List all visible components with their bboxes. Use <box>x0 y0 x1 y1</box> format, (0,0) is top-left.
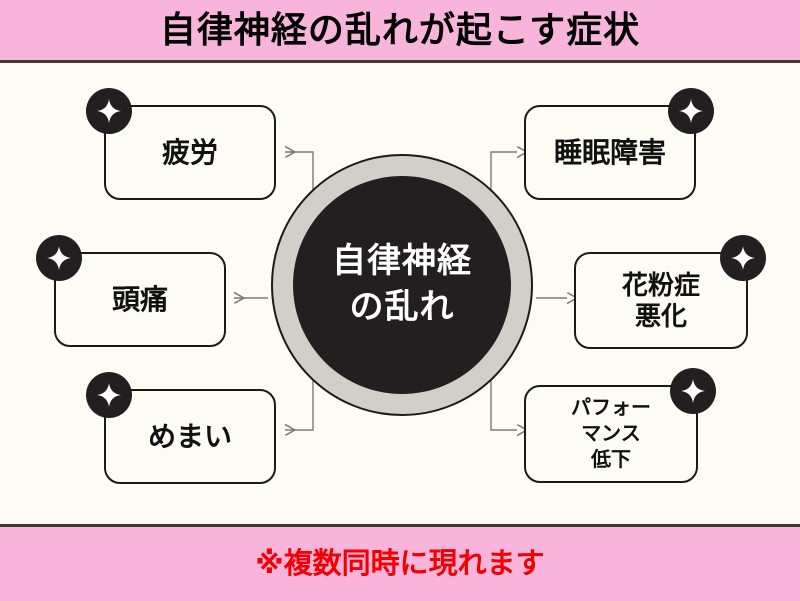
sparkle-icon <box>86 88 132 134</box>
sparkle-icon <box>36 235 82 281</box>
footer-banner: ※複数同時に現れます <box>0 527 800 601</box>
symptom-label: 睡眠障害 <box>554 136 666 169</box>
header-banner: 自律神経の乱れが起こす症状 <box>0 0 800 60</box>
symptom-node-pollen[interactable]: 花粉症 悪化 <box>574 252 748 349</box>
symptom-node-headache[interactable]: 頭痛 <box>54 252 226 347</box>
symptom-label-line-2: マンス <box>581 421 641 447</box>
footer-note: ※複数同時に現れます <box>255 550 544 579</box>
symptom-label: 頭痛 <box>112 283 168 316</box>
symptom-label: 疲労 <box>162 136 218 169</box>
symptom-label-line-1: 花粉症 <box>622 270 700 301</box>
symptom-node-fatigue[interactable]: 疲労 <box>104 105 276 200</box>
connector-hub-to-fatigue <box>285 152 313 190</box>
sparkle-icon <box>670 368 716 414</box>
connector-hub-to-dizzy <box>285 380 313 430</box>
symptom-node-dizziness[interactable]: めまい <box>104 389 276 484</box>
sparkle-icon <box>86 372 132 418</box>
symptom-node-sleep[interactable]: 睡眠障害 <box>524 105 696 200</box>
sparkle-icon <box>668 88 714 134</box>
symptom-label-line-2: 悪化 <box>635 301 687 332</box>
symptom-label-line-3: 低下 <box>591 447 631 473</box>
connector-hub-to-performance <box>491 380 517 430</box>
symptom-label: めまい <box>148 420 232 453</box>
diagram-stage: 自律神経 の乱れ 疲労 睡眠障害 <box>0 63 800 524</box>
symptom-node-performance[interactable]: パフォー マンス 低下 <box>524 385 698 483</box>
central-hub-inner: 自律神経 の乱れ <box>293 176 511 394</box>
central-hub-line-1: 自律神経 <box>332 239 472 285</box>
connector-hub-to-sleep <box>491 152 517 190</box>
page-title: 自律神経の乱れが起こす症状 <box>160 12 640 48</box>
central-hub-line-2: の乱れ <box>350 285 455 331</box>
sparkle-icon <box>720 235 766 281</box>
diagram-canvas: 自律神経の乱れが起こす症状 <box>0 0 800 601</box>
symptom-label-line-1: パフォー <box>571 395 651 421</box>
central-hub: 自律神経 の乱れ <box>271 154 533 416</box>
